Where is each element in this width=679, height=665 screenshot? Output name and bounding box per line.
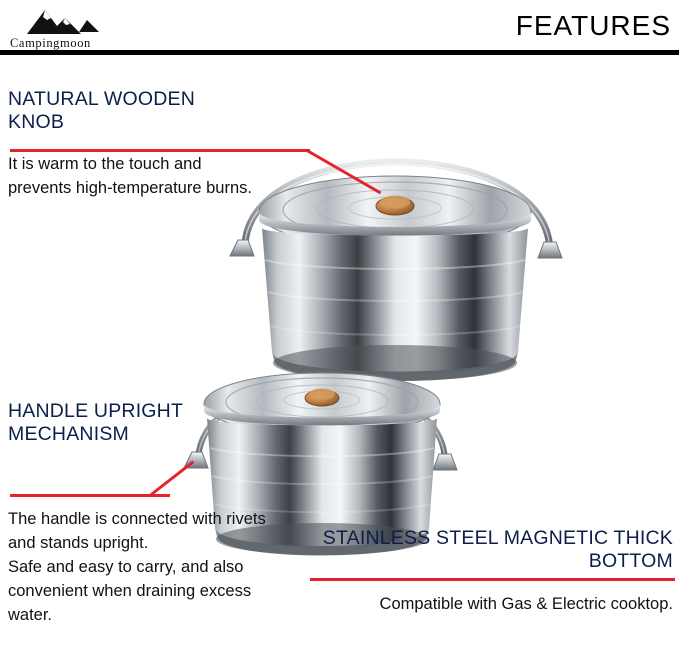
callout-title-handle-upright-mechanism: HANDLE UPRIGHT MECHANISM — [8, 400, 188, 446]
callout-body-stainless-steel-magnetic-thick-bottom: Compatible with Gas & Electric cooktop. — [343, 592, 673, 616]
large-pot — [230, 162, 562, 381]
header-divider — [0, 50, 679, 55]
brand-logo: Campingmoon — [10, 6, 140, 52]
callout-title-natural-wooden-knob: NATURAL WOODEN KNOB — [8, 88, 248, 134]
leader-line-handle-horizontal — [10, 494, 170, 497]
mountain-logo-icon — [25, 6, 101, 36]
callout-body-handle-upright-mechanism: The handle is connected with rivets and … — [8, 507, 273, 627]
callout-title-stainless-steel-magnetic-thick-bottom: STAINLESS STEEL MAGNETIC THICK BOTTOM — [293, 527, 673, 573]
features-infographic: Campingmoon FEATURES — [0, 0, 679, 665]
leader-line-knob-horizontal — [10, 149, 310, 152]
page-title: FEATURES — [516, 10, 671, 42]
brand-name: Campingmoon — [10, 36, 91, 51]
leader-line-bottom-horizontal — [310, 578, 675, 581]
callout-body-natural-wooden-knob: It is warm to the touch and prevents hig… — [8, 152, 258, 200]
